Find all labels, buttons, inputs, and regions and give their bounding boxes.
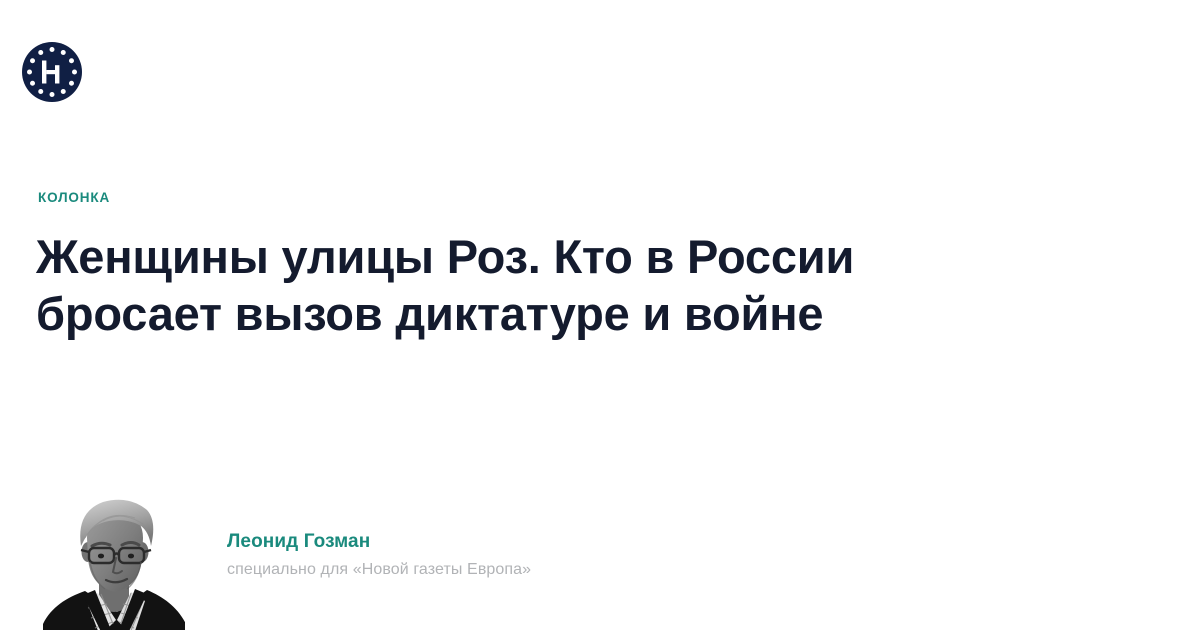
author-role: специально для «Новой газеты Европа»	[227, 559, 747, 580]
headline-line-2: бросает вызов диктатуре и войне	[36, 285, 1036, 342]
novaya-gazeta-europe-roundel-icon	[22, 42, 82, 102]
article-headline: Женщины улицы Роз. Кто в России бросает …	[36, 228, 1036, 342]
author-name[interactable]: Леонид Гозман	[227, 530, 747, 554]
article-share-card: КОЛОНКА Женщины улицы Роз. Кто в России …	[0, 0, 1200, 630]
brand-logo[interactable]	[22, 42, 82, 102]
headline-line-1: Женщины улицы Роз. Кто в России	[36, 228, 1036, 285]
article-rubric[interactable]: КОЛОНКА	[38, 191, 110, 205]
author-meta: Леонид Гозман специально для «Новой газе…	[227, 530, 747, 580]
author-block[interactable]: Леонид Гозман специально для «Новой газе…	[43, 490, 743, 630]
author-portrait-photo	[43, 490, 185, 630]
author-photo	[43, 490, 185, 630]
